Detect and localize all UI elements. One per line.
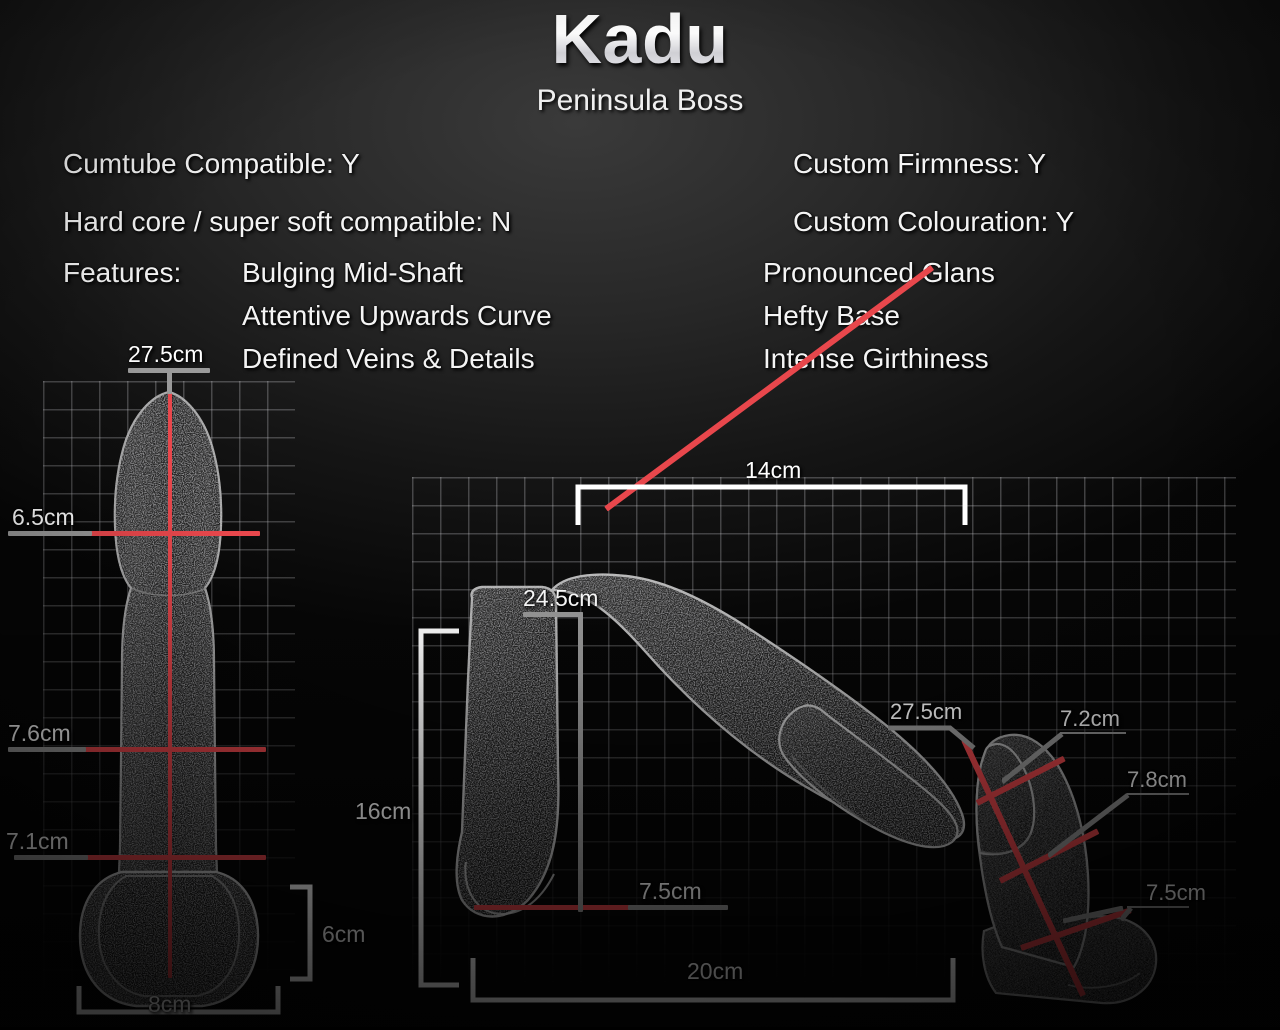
- front-girth-line-glans: [88, 531, 260, 536]
- spec-custom-firmness: Custom Firmness: Y: [793, 150, 1046, 178]
- front-center-axis-line: [168, 392, 172, 978]
- bracket-front-6cm: [288, 884, 318, 982]
- bracket-side-14cm: [575, 484, 968, 528]
- measurement-front-7_6cm: 7.6cm: [8, 722, 71, 745]
- measurement-angled-7_2cm: 7.2cm: [1060, 708, 1120, 730]
- leader-front-7_1cm: [14, 855, 88, 860]
- leader-angled-7_8cm-diagonal: [1048, 793, 1130, 859]
- spec-custom-colouration: Custom Colouration: Y: [793, 208, 1074, 236]
- measurement-side-16cm: 16cm: [355, 800, 411, 823]
- measurement-side-24_5cm: 24.5cm: [523, 587, 598, 610]
- feature-pronounced-glans: Pronounced Glans: [763, 259, 995, 287]
- spec-cumtube-compatible: Cumtube Compatible: Y: [63, 150, 360, 178]
- poster-canvas: Kadu Peninsula Boss Cumtube Compatible: …: [0, 0, 1280, 1027]
- measurement-front-6cm: 6cm: [322, 923, 365, 946]
- side-base-red-line: [474, 905, 638, 910]
- side-view-model: [410, 470, 1010, 1030]
- leader-angled-7_5cm-stem: [1063, 906, 1125, 924]
- measurement-front-6_5cm: 6.5cm: [12, 506, 75, 529]
- leader-angled-7_2cm: [1060, 732, 1126, 734]
- leader-angled-7_5cm: [1127, 906, 1189, 908]
- front-girth-line-midshaft: [80, 747, 266, 752]
- measurement-angled-7_8cm: 7.8cm: [1127, 769, 1187, 791]
- measurement-front-7_1cm: 7.1cm: [6, 830, 69, 853]
- measurement-angled-7_5cm: 7.5cm: [1146, 882, 1206, 904]
- measurement-side-14cm: 14cm: [745, 459, 801, 482]
- page-subtitle: Peninsula Boss: [0, 86, 1280, 116]
- leader-angled-7_8cm: [1127, 793, 1189, 795]
- leader-front-7_6cm: [8, 747, 86, 752]
- spec-hardcore-compatible: Hard core / super soft compatible: N: [63, 208, 511, 236]
- measurement-front-27_5cm: 27.5cm: [128, 343, 203, 366]
- leader-side-24_5cm-vertical: [578, 612, 583, 912]
- angled-view-model: [940, 715, 1260, 1030]
- measurement-side-7_5cm: 7.5cm: [639, 880, 702, 903]
- measurement-front-8cm: 8cm: [148, 993, 191, 1016]
- leader-front-6_5cm: [8, 531, 92, 536]
- leader-side-7_5cm: [628, 905, 728, 910]
- feature-bulging-mid-shaft: Bulging Mid-Shaft: [242, 259, 463, 287]
- bracket-side-16cm: [418, 628, 462, 988]
- measurement-side-20cm: 20cm: [687, 960, 743, 983]
- leader-side-24_5cm-horizontal: [523, 612, 583, 617]
- spec-features-label: Features:: [63, 259, 181, 287]
- measurement-angled-27_5cm: 27.5cm: [890, 701, 962, 723]
- front-girth-line-base: [78, 855, 266, 860]
- page-title: Kadu: [0, 4, 1280, 74]
- feature-attentive-upwards-curve: Attentive Upwards Curve: [242, 302, 552, 330]
- leader-angled-27_5cm: [886, 724, 978, 750]
- feature-defined-veins: Defined Veins & Details: [242, 345, 535, 373]
- leader-front-27_5cm-vertical: [167, 368, 172, 394]
- leader-angled-7_2cm-diagonal: [1002, 732, 1064, 784]
